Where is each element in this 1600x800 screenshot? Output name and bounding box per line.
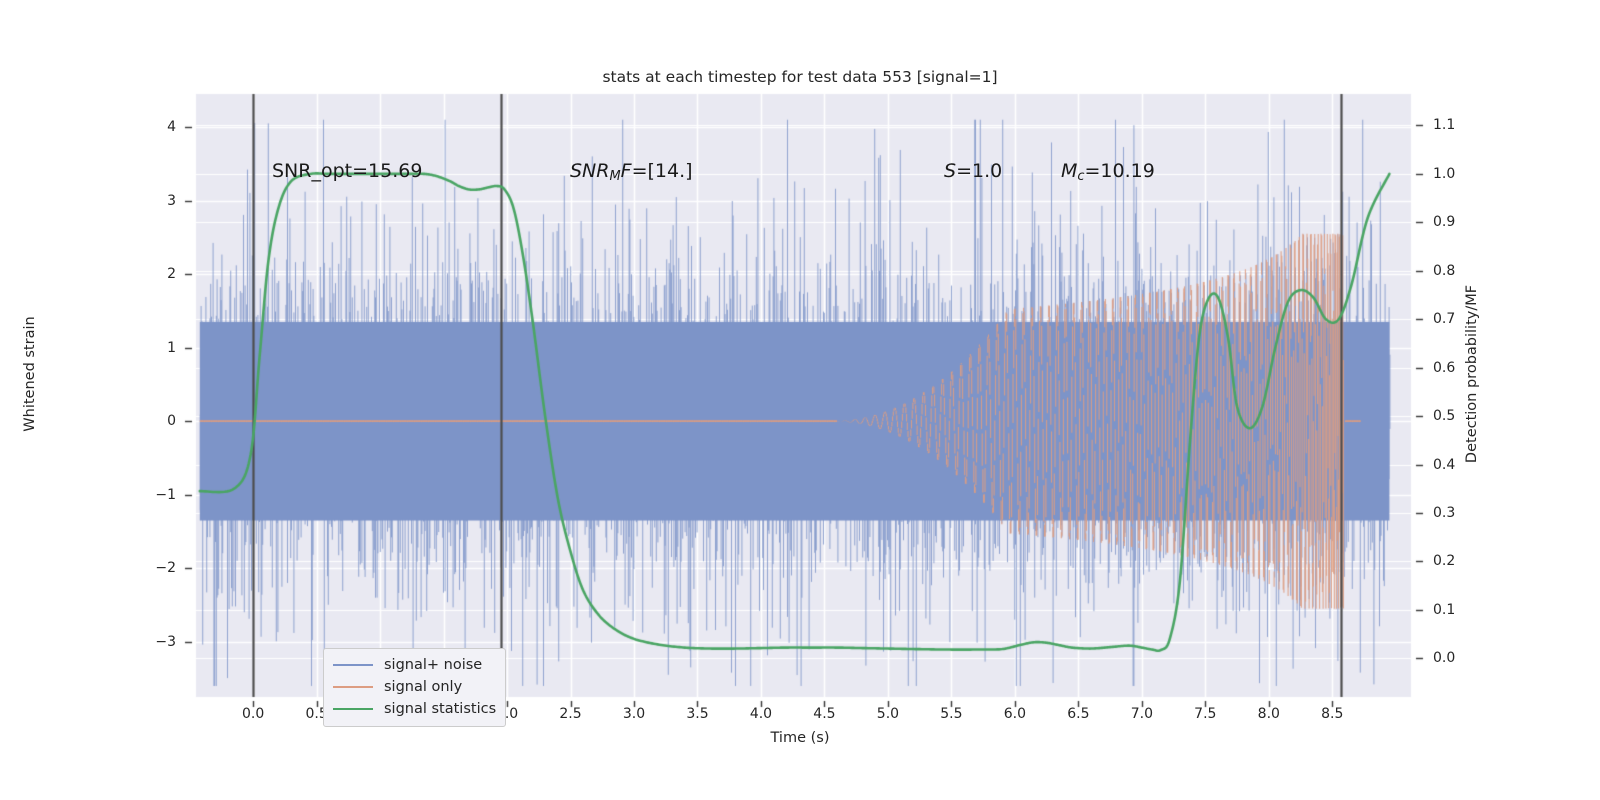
- annotation-mc-label: M: [1061, 160, 1077, 182]
- y-axis-right-tick-label: 0.8: [1433, 263, 1493, 279]
- annotation-mc: Mc=10.19: [1061, 160, 1155, 184]
- annotation-snr-mf: SNRMF=[14.]: [570, 160, 693, 184]
- x-axis-tick-label: 6.0: [1004, 706, 1026, 722]
- x-axis-tick-label: 4.0: [750, 706, 772, 722]
- legend-swatch: [333, 708, 373, 710]
- legend-label: signal+ noise: [384, 657, 482, 673]
- annotation-mc-value: =10.19: [1085, 160, 1155, 182]
- x-axis-tick-label: 7.5: [1194, 706, 1216, 722]
- x-axis-tick-label: 7.0: [1131, 706, 1153, 722]
- annotation-snr-mf-label2: F: [621, 160, 632, 182]
- annotation-s: S=1.0: [944, 160, 1002, 182]
- annotation-snr-mf-label: SNR: [570, 160, 609, 182]
- x-axis-label: Time (s): [600, 730, 1000, 746]
- y-axis-left-tick-label: 1: [104, 340, 176, 356]
- y-axis-right-tick-label: 0.9: [1433, 214, 1493, 230]
- x-axis-tick-label: 0.0: [242, 706, 264, 722]
- annotation-s-label: S: [944, 160, 956, 182]
- y-axis-left-label: Whitened strain: [22, 224, 38, 524]
- y-axis-left-tick-label: −3: [104, 634, 176, 650]
- annotation-mc-sub: c: [1077, 169, 1084, 184]
- y-axis-right-tick-label: 0.1: [1433, 602, 1493, 618]
- y-axis-left-tick-label: −2: [104, 560, 176, 576]
- y-axis-left-tick-label: 2: [104, 266, 176, 282]
- annotation-snr-opt-label: SNR_opt=: [272, 160, 368, 182]
- legend-label: signal only: [384, 679, 462, 695]
- legend-item[interactable]: signal only: [333, 676, 496, 698]
- annotation-snr-opt-value: 15.69: [368, 160, 422, 182]
- legend-label: signal statistics: [384, 701, 496, 717]
- y-axis-left-tick-label: 0: [104, 413, 176, 429]
- y-axis-left-tick-label: 4: [104, 119, 176, 135]
- annotation-snr-mf-sub: M: [609, 169, 620, 184]
- y-axis-right-tick-label: 1.1: [1433, 117, 1493, 133]
- annotation-snr-mf-value: =[14.]: [632, 160, 693, 182]
- x-axis-tick-label: 6.5: [1067, 706, 1089, 722]
- y-axis-left-tick-label: −1: [104, 487, 176, 503]
- y-axis-right-tick-label: 0.3: [1433, 505, 1493, 521]
- legend-item[interactable]: signal+ noise: [333, 654, 496, 676]
- x-axis-tick-label: 5.5: [940, 706, 962, 722]
- x-axis-tick-label: 8.5: [1321, 706, 1343, 722]
- y-axis-right-tick-label: 0.4: [1433, 457, 1493, 473]
- legend-item[interactable]: signal statistics: [333, 698, 496, 720]
- y-axis-right-tick-label: 1.0: [1433, 166, 1493, 182]
- x-axis-tick-label: 3.5: [686, 706, 708, 722]
- y-axis-right-tick-label: 0.7: [1433, 311, 1493, 327]
- y-axis-right-tick-label: 0.2: [1433, 553, 1493, 569]
- legend-swatch: [333, 686, 373, 688]
- legend-swatch: [333, 664, 373, 666]
- y-axis-right-tick-label: 0.0: [1433, 650, 1493, 666]
- y-axis-right-tick-label: 0.5: [1433, 408, 1493, 424]
- x-axis-tick-label: 8.0: [1258, 706, 1280, 722]
- y-axis-right-tick-label: 0.6: [1433, 360, 1493, 376]
- x-axis-tick-label: 3.0: [623, 706, 645, 722]
- x-axis-tick-label: 4.5: [813, 706, 835, 722]
- chart-legend[interactable]: signal+ noisesignal onlysignal statistic…: [323, 648, 506, 727]
- chart-title: stats at each timestep for test data 553…: [0, 68, 1600, 86]
- figure-container: stats at each timestep for test data 553…: [0, 0, 1600, 800]
- chart-canvas: [0, 0, 1600, 800]
- annotation-s-value: =1.0: [956, 160, 1002, 182]
- x-axis-tick-label: 2.5: [559, 706, 581, 722]
- x-axis-tick-label: 5.0: [877, 706, 899, 722]
- annotation-snr-opt: SNR_opt=15.69: [272, 160, 422, 182]
- y-axis-left-tick-label: 3: [104, 193, 176, 209]
